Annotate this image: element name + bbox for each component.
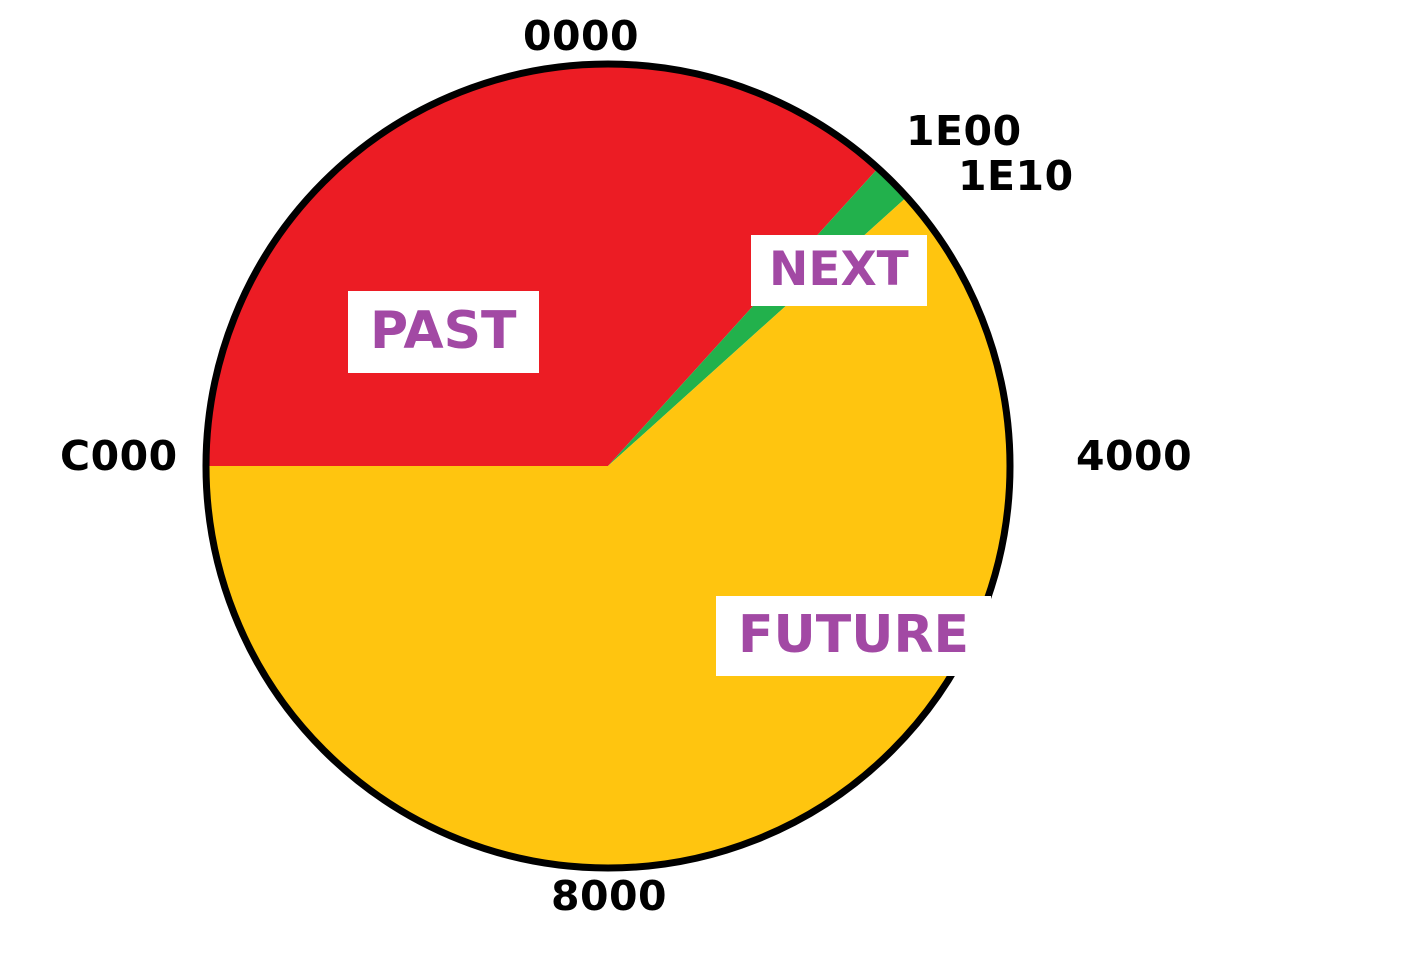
tick-label-8000: 8000: [551, 872, 667, 920]
tick-label-1E00: 1E00: [906, 107, 1022, 155]
address-ring-svg: [0, 0, 1404, 949]
pie-chart-canvas: 0000 1E00 1E10 4000 8000 C000 PAST NEXT …: [0, 0, 1404, 949]
tick-label-C000: C000: [60, 432, 178, 480]
region-label-next: NEXT: [751, 235, 927, 306]
region-label-future: FUTURE: [716, 596, 991, 676]
region-label-past: PAST: [348, 291, 539, 373]
tick-label-4000: 4000: [1076, 432, 1192, 480]
tick-label-0000: 0000: [523, 12, 639, 60]
tick-label-1E10: 1E10: [958, 152, 1074, 200]
